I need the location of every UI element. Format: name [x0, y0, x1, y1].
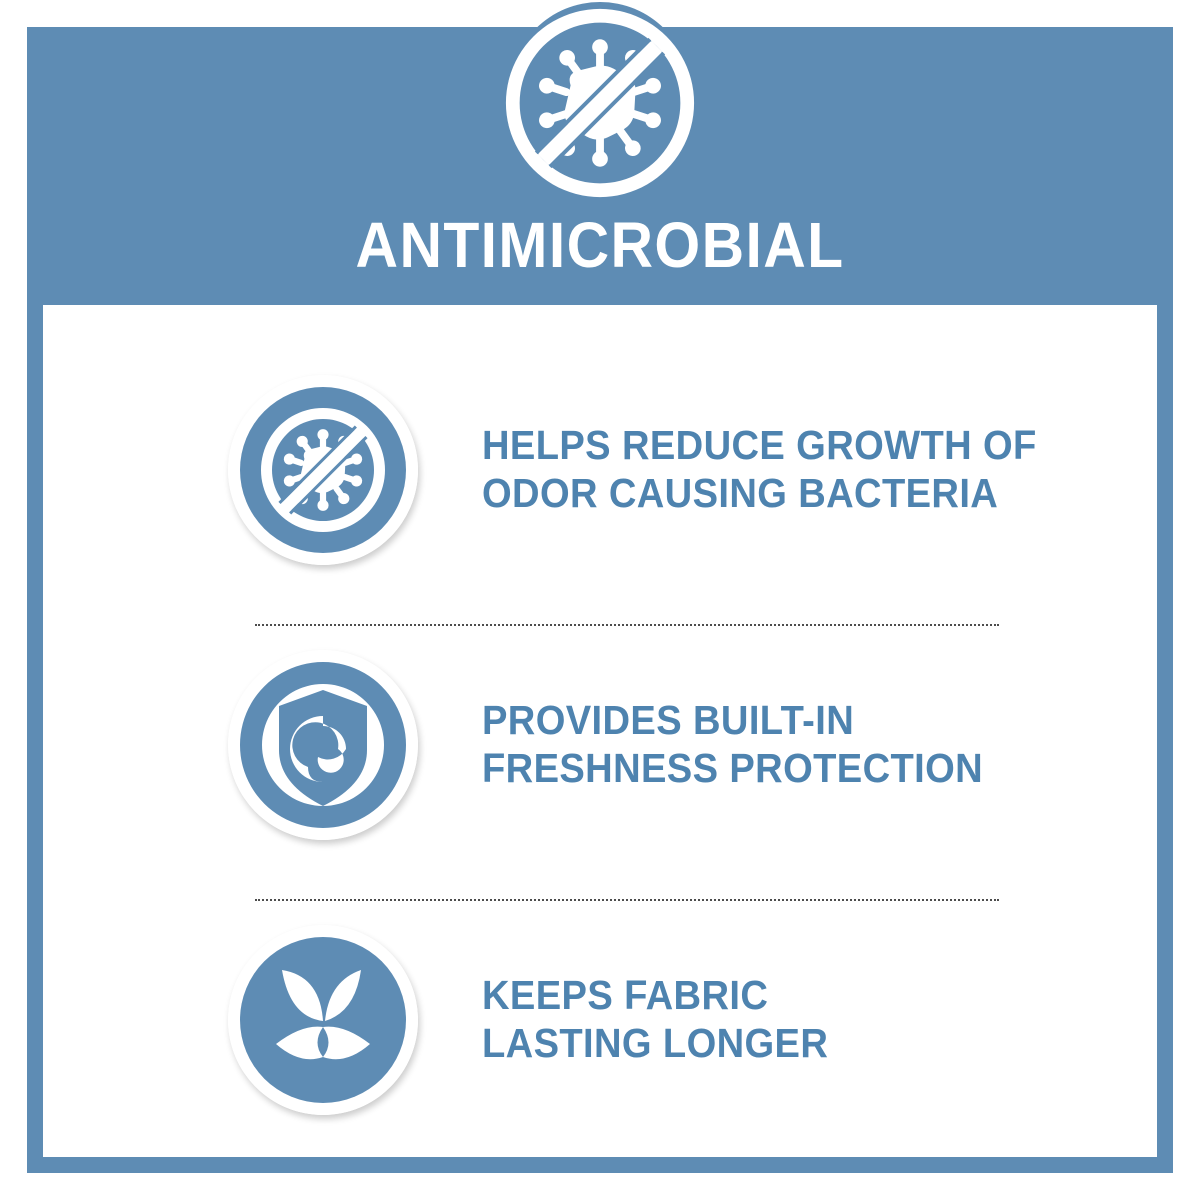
card-header: ANTIMICROBIAL [27, 27, 1173, 305]
feature-line: PROVIDES BUILT-IN [482, 697, 983, 745]
feature-line: KEEPS FABRIC [482, 972, 828, 1020]
shield-swirl-icon [228, 650, 418, 840]
no-germ-icon [228, 375, 418, 565]
list-item: HELPS REDUCE GROWTH OF ODOR CAUSING BACT… [43, 355, 1157, 585]
no-germ-icon [502, 5, 698, 201]
antimicrobial-card: ANTIMICROBIAL [27, 27, 1173, 1173]
feature-line: ODOR CAUSING BACTERIA [482, 470, 1037, 518]
infographic-canvas: ANTIMICROBIAL [0, 0, 1200, 1200]
features-list: HELPS REDUCE GROWTH OF ODOR CAUSING BACT… [43, 305, 1157, 1157]
feature-text: KEEPS FABRIC LASTING LONGER [482, 972, 828, 1067]
features-panel: HELPS REDUCE GROWTH OF ODOR CAUSING BACT… [43, 305, 1157, 1157]
divider [255, 899, 999, 901]
sprout-leaves-icon [228, 925, 418, 1115]
feature-line: FRESHNESS PROTECTION [482, 745, 983, 793]
feature-text: HELPS REDUCE GROWTH OF ODOR CAUSING BACT… [482, 422, 1037, 517]
feature-line: HELPS REDUCE GROWTH OF [482, 422, 1037, 470]
feature-line: LASTING LONGER [482, 1020, 828, 1068]
divider [255, 624, 999, 626]
feature-text: PROVIDES BUILT-IN FRESHNESS PROTECTION [482, 697, 983, 792]
list-item: PROVIDES BUILT-IN FRESHNESS PROTECTION [43, 630, 1157, 860]
list-item: KEEPS FABRIC LASTING LONGER [43, 905, 1157, 1135]
page-title: ANTIMICROBIAL [73, 213, 1127, 277]
